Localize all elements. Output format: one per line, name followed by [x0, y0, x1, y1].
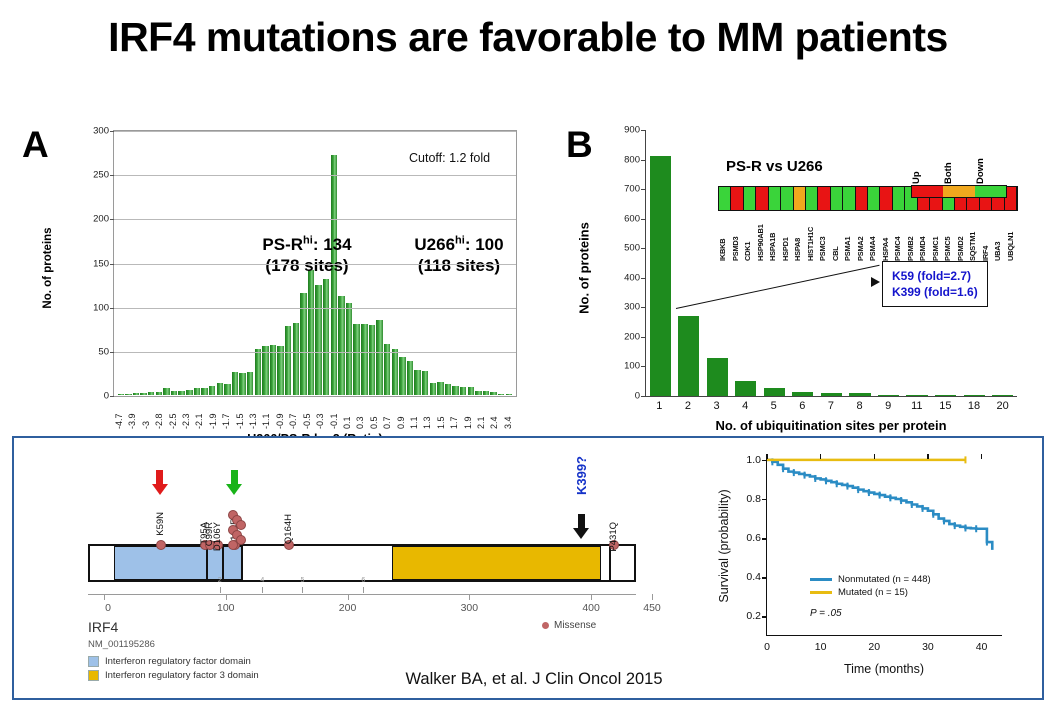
stat-psr-count: : 134 [313, 235, 352, 254]
panel-b-x-tick: 3 [702, 400, 731, 412]
panel-b-x-tick: 2 [674, 400, 703, 412]
stat-u266-high: U266hi: 100 (118 sites) [384, 234, 534, 277]
heatmap-gene-label: SQSTM1 [968, 213, 981, 261]
survival-legend: Nonmutated (n = 448)Mutated (n = 15) [810, 574, 931, 600]
heatmap-cell [744, 187, 756, 210]
histogram-bar [361, 324, 367, 395]
histogram-bar [186, 390, 192, 395]
heatmap-cell [880, 187, 892, 210]
heatmap-gene-label: PSMD2 [956, 213, 969, 261]
panel-b-bar-column [846, 130, 875, 396]
survival-plot-area: 0.20.40.60.81.0010203040 [766, 454, 1002, 636]
histogram-bar [239, 373, 245, 395]
heatmap-cell [781, 187, 793, 210]
histogram-bar [338, 296, 344, 395]
stat-psr-sites: (178 sites) [232, 255, 382, 276]
panel-b-y-tick: 800 [624, 154, 640, 165]
survival-y-tick: 0.6 [746, 532, 761, 544]
panel-a-y-tick-dash [110, 219, 114, 220]
domain-legend-row: Interferon regulatory factor domain [88, 656, 259, 667]
mutation-label: D106Y [212, 522, 223, 551]
panel-a-x-tick: -0.9 [275, 399, 288, 429]
heatmap-gene-label: CDK1 [743, 213, 756, 261]
heatmap-gene-label: HSPA1B [768, 213, 781, 261]
histogram-bar [414, 370, 420, 395]
panel-b-x-tick: 18 [960, 400, 989, 412]
gene-name: IRF4 NM_001195286 [88, 620, 155, 650]
panel-a-x-tick: -3.9 [127, 399, 140, 429]
histogram-bar [452, 386, 458, 395]
panel-b-y-tick-dash [641, 219, 646, 220]
red-arrow-shaft [156, 470, 163, 485]
panel-a-x-tick: 1.7 [449, 399, 462, 429]
survival-y-tick: 0.2 [746, 610, 761, 622]
axis-tick-label: 400 [582, 602, 600, 614]
heatmap-gene-label: IKBKB [718, 213, 731, 261]
panel-b-bar [992, 395, 1013, 396]
panel-b-bar [650, 156, 671, 396]
panel-a-x-tick: -2.8 [154, 399, 167, 429]
histogram-bar [422, 371, 428, 395]
histogram-bar [140, 393, 146, 395]
panel-a-x-tick: -3 [141, 399, 154, 429]
axis-tick [469, 594, 470, 600]
histogram-bar [445, 384, 451, 395]
heatmap-title: PS-R vs U266 [726, 158, 823, 175]
panel-a-x-tick: 0.5 [369, 399, 382, 429]
heatmap-legend-bar [911, 185, 1007, 198]
domain-legend-row: Interferon regulatory factor 3 domain [88, 670, 259, 681]
panel-b-y-tick-dash [641, 160, 646, 161]
histogram-bar [285, 326, 291, 395]
gridline [114, 131, 516, 132]
survival-legend-line [810, 591, 832, 594]
panel-b-bar [707, 358, 728, 396]
panel-b-y-tick: 900 [624, 125, 640, 136]
panel-b-bar [678, 316, 699, 396]
gene-symbol: IRF4 [88, 619, 118, 635]
panel-a-x-tick: -1.1 [261, 399, 274, 429]
lollipop-dot [228, 540, 238, 550]
histogram-bar [369, 325, 375, 395]
domain-legend-swatch [88, 656, 99, 667]
histogram-bar [133, 393, 139, 395]
axis-tick [348, 594, 349, 600]
heatmap-gene-label: HSPA8 [793, 213, 806, 261]
panel-a-y-tick: 0 [104, 391, 109, 402]
panel-b-x-tick: 15 [931, 400, 960, 412]
page-title: IRF4 mutations are favorable to MM patie… [0, 14, 1056, 61]
heatmap-gene-label: HSP90AB1 [756, 213, 769, 261]
protein-axis: 01002003004004502456 [88, 594, 636, 595]
histogram-bar [156, 392, 162, 395]
panel-a-y-tick: 150 [93, 258, 109, 269]
survival-legend-line [810, 578, 832, 581]
heatmap-cell [856, 187, 868, 210]
histogram-bar [293, 323, 299, 395]
survival-x-tick: 40 [976, 641, 988, 653]
panel-a-x-tick: 1.5 [436, 399, 449, 429]
histogram-bar [490, 392, 496, 395]
stat-psr-high: PS-Rhi: 134 (178 sites) [232, 234, 382, 277]
panel-a-x-tick: 1.1 [409, 399, 422, 429]
lollipop-dot [156, 540, 166, 550]
histogram-bar [148, 392, 154, 395]
heatmap-gene-label: PSMA4 [868, 213, 881, 261]
survival-plot: 0.20.40.60.81.0010203040 Survival (proba… [714, 446, 1030, 692]
panel-a-x-tick: -1.9 [208, 399, 221, 429]
heatmap-cell [868, 187, 880, 210]
histogram-bar [247, 372, 253, 395]
histogram-bar [392, 349, 398, 395]
stat-u266-name: U266 [414, 235, 455, 254]
survival-x-tick: 0 [764, 641, 770, 653]
survival-x-tick-dash [874, 454, 875, 459]
heatmap-gene-label: PSMB2 [906, 213, 919, 261]
panel-b-y-tick-dash [641, 307, 646, 308]
cutoff-note: Cutoff: 1.2 fold [409, 151, 490, 165]
axis-tick [104, 594, 105, 600]
panel-a-x-tick-labels: -4.7-3.9-3-2.8-2.5-2.3-2.1-1.9-1.7-1.5-1… [114, 399, 516, 429]
heatmap-cell [769, 187, 781, 210]
heatmap-gene-label: PSMC4 [893, 213, 906, 261]
panel-a-y-tick: 300 [93, 126, 109, 137]
panel-a-x-tick: 2.4 [489, 399, 502, 429]
panel-a-y-tick-dash [110, 175, 114, 176]
panel-b-y-tick: 0 [635, 391, 640, 402]
histogram-bar [255, 349, 261, 395]
survival-x-tick-dash [766, 454, 767, 459]
histogram-bar [171, 391, 177, 395]
survival-x-tick-dash [981, 454, 982, 459]
panel-a: A Cutoff: 1.2 fold PS-Rhi: 134 (178 site… [22, 118, 522, 438]
survival-y-tick-dash [762, 499, 767, 500]
heatmap-legend-labels: UpBothDown [911, 148, 1007, 184]
panel-a-x-tick: -1.7 [221, 399, 234, 429]
survival-p-value: P = .05 [810, 608, 842, 619]
histogram-bar [323, 279, 329, 395]
panel-a-x-tick: -0.3 [315, 399, 328, 429]
axis-tick-label: 0 [105, 602, 111, 614]
panel-a-x-tick: -0.7 [288, 399, 301, 429]
black-arrow-shaft [578, 514, 585, 529]
panel-a-y-tick: 100 [93, 302, 109, 313]
panel-b-y-tick-dash [641, 278, 646, 279]
survival-y-tick-dash [762, 577, 767, 578]
panel-b-x-tick: 8 [845, 400, 874, 412]
heatmap-gene-label: HIST1H1C [806, 213, 819, 261]
panel-a-x-tick: -2.1 [194, 399, 207, 429]
heatmap-gene-label: PSMA2 [856, 213, 869, 261]
survival-x-tick-dash [820, 454, 821, 459]
axis-tick [652, 594, 653, 600]
stat-u266-sites: (118 sites) [384, 255, 534, 276]
heatmap-cell [794, 187, 806, 210]
green-arrow-shaft [231, 470, 238, 485]
panel-b-bar [878, 395, 899, 396]
survival-x-tick: 20 [868, 641, 880, 653]
gridline [114, 264, 516, 265]
panel-b-y-axis-label: No. of proteins [577, 222, 592, 314]
panel-b-y-tick: 300 [624, 302, 640, 313]
axis-tick-label: 450 [643, 602, 661, 614]
panel-b-bar [935, 395, 956, 396]
panel-b-y-tick-dash [641, 366, 646, 367]
histogram-bar [118, 394, 124, 395]
heatmap-cell [818, 187, 830, 210]
survival-y-tick: 1.0 [746, 454, 761, 466]
histogram-bar [475, 391, 481, 395]
histogram-bar [300, 293, 306, 395]
panel-a-plot-area: Cutoff: 1.2 fold PS-Rhi: 134 (178 sites)… [113, 130, 517, 397]
panel-b-x-axis-label: No. of ubiquitination sites per protein [645, 418, 1017, 433]
red-arrow-head [152, 484, 168, 495]
panel-b-bar-column [646, 130, 675, 396]
panel-a-x-tick: 3.4 [503, 399, 516, 429]
heatmap-gene-label: PSMC1 [931, 213, 944, 261]
gene-accession: NM_001195286 [88, 639, 155, 650]
panel-b-x-tick: 5 [759, 400, 788, 412]
heatmap-legend-swatch [943, 186, 974, 197]
heatmap-gene-labels: IKBKBPSMD3CDK1HSP90AB1HSPA1BHSPD1HSPA8HI… [718, 213, 1018, 261]
mutation-label: K59N [155, 512, 166, 536]
panel-a-y-tick-dash [110, 396, 114, 397]
panel-b-letter: B [566, 126, 593, 163]
histogram-bar [209, 386, 215, 395]
survival-x-tick-dash [927, 454, 928, 459]
histogram-bar [201, 388, 207, 395]
stat-psr-sup: hi [303, 234, 313, 246]
axis-minor-tick [302, 587, 303, 593]
survival-y-tick-dash [762, 460, 767, 461]
panel-b-x-tick-labels: 12345678911151820 [645, 400, 1017, 412]
heatmap-gene-label: PSMA1 [843, 213, 856, 261]
histogram-bar [399, 357, 405, 395]
histogram-bar [262, 346, 268, 395]
heatmap-cell [756, 187, 768, 210]
missense-legend: Missense [542, 620, 596, 631]
panel-a-y-tick-dash [110, 131, 114, 132]
gridline [114, 308, 516, 309]
panel-b-bar [849, 393, 870, 396]
heatmap-gene-label: PSMD3 [731, 213, 744, 261]
panel-a-x-tick: -2.3 [181, 399, 194, 429]
axis-minor-label: 6 [361, 577, 365, 584]
panel-a-letter: A [22, 126, 49, 163]
heatmap-legend-swatch [975, 186, 1006, 197]
domain-legend-label: Interferon regulatory factor 3 domain [105, 670, 259, 681]
histogram-bar [125, 394, 131, 395]
histogram-bar [506, 394, 512, 395]
panel-b-x-tick: 20 [988, 400, 1017, 412]
histogram-bar [232, 372, 238, 395]
histogram-bar [407, 361, 413, 395]
heatmap-legend-label: Both [943, 148, 975, 184]
panel-a-x-tick: -1.5 [235, 399, 248, 429]
histogram-bar [353, 324, 359, 395]
heatmap-gene-label: HSPA4 [881, 213, 894, 261]
panel-b-y-tick: 400 [624, 272, 640, 283]
panel-b-x-tick: 1 [645, 400, 674, 412]
heatmap-gene-label: HSPD1 [781, 213, 794, 261]
panel-b-bar [906, 395, 927, 396]
panel-a-x-tick: 2.1 [476, 399, 489, 429]
panel-a-x-tick: -4.7 [114, 399, 127, 429]
panel-a-x-tick: 0.7 [382, 399, 395, 429]
gridline [114, 175, 516, 176]
stat-psr-name: PS-R [262, 235, 303, 254]
panel-b-y-tick-dash [641, 337, 646, 338]
panel-a-y-tick-dash [110, 264, 114, 265]
axis-minor-label: 5 [301, 577, 305, 584]
heatmap-gene-label: CBL [831, 213, 844, 261]
histogram-bar [217, 383, 223, 395]
axis-tick-label: 300 [461, 602, 479, 614]
stat-u266-sup: hi [455, 234, 465, 246]
axis-tick [591, 594, 592, 600]
heatmap-legend-label: Down [975, 148, 1007, 184]
panel-b-bar [964, 395, 985, 396]
heatmap-gene-label: UBA3 [993, 213, 1006, 261]
panel-b-bar [735, 381, 756, 396]
survival-x-tick: 30 [922, 641, 934, 653]
mutation-label: P431Q [608, 522, 619, 552]
survival-legend-label: Mutated (n = 15) [838, 587, 908, 598]
survival-y-tick-dash [762, 616, 767, 617]
survival-y-tick: 0.8 [746, 493, 761, 505]
callout-line-1: K59 (fold=2.7) [892, 268, 978, 284]
panel-a-x-tick: -1.3 [248, 399, 261, 429]
panel-a-y-tick: 50 [98, 346, 109, 357]
survival-y-tick: 0.4 [746, 571, 761, 583]
panel-b-y-tick: 100 [624, 361, 640, 372]
survival-legend-row: Nonmutated (n = 448) [810, 574, 931, 585]
axis-minor-label: 4 [260, 577, 264, 584]
panel-b-y-tick-dash [641, 189, 646, 190]
histogram-bar [277, 346, 283, 395]
survival-legend-label: Nonmutated (n = 448) [838, 574, 931, 585]
panel-b-y-tick: 600 [624, 213, 640, 224]
missense-legend-label: Missense [554, 620, 596, 631]
panel-b-x-tick: 11 [902, 400, 931, 412]
heatmap-cell [806, 187, 818, 210]
panel-a-x-tick: -2.5 [168, 399, 181, 429]
lollipop-diagram: 01002003004004502456 IRF4 NM_001195286 I… [72, 448, 652, 688]
domain-legend: Interferon regulatory factor domainInter… [88, 656, 259, 684]
k399-label: K399? [574, 456, 589, 495]
axis-tick [226, 594, 227, 600]
heatmap-gene-label: UBQLN1 [1006, 213, 1019, 261]
panel-b-y-tick-dash [641, 396, 646, 397]
domain-legend-swatch [88, 670, 99, 681]
panel-a-y-tick: 200 [93, 214, 109, 225]
panel-a-x-tick: 1.3 [422, 399, 435, 429]
histogram-bar [498, 394, 504, 395]
survival-y-tick-dash [762, 538, 767, 539]
survival-x-axis-label: Time (months) [766, 662, 1002, 676]
green-arrow-head [226, 484, 242, 495]
black-arrow-head [573, 528, 589, 539]
panel-b-bar [821, 393, 842, 396]
survival-curves [767, 454, 1003, 636]
callout-arrowhead [871, 277, 880, 287]
callout-line-2: K399 (fold=1.6) [892, 284, 978, 300]
panel-b-y-tick: 200 [624, 331, 640, 342]
panel-b-y-tick-dash [641, 248, 646, 249]
panel-b-y-tick: 700 [624, 184, 640, 195]
gridline [114, 219, 516, 220]
panel-a-x-tick: -0.1 [329, 399, 342, 429]
histogram-bar [224, 384, 230, 395]
stat-u266-count: : 100 [465, 235, 504, 254]
panel-b-x-tick: 9 [874, 400, 903, 412]
histogram-bar [437, 382, 443, 395]
histogram-bar [460, 387, 466, 395]
panel-b-bar [764, 388, 785, 396]
bottom-panel: 01002003004004502456 IRF4 NM_001195286 I… [12, 436, 1044, 700]
panel-b-y-tick-dash [641, 130, 646, 131]
histogram-bar [468, 387, 474, 395]
panel-b-bar-column [675, 130, 704, 396]
histogram-bar [315, 285, 321, 395]
panel-b: B 0100200300400500600700800900 No. of pr… [566, 118, 1046, 438]
panel-b-y-tick: 500 [624, 243, 640, 254]
histogram-bar [376, 320, 382, 395]
heatmap-gene-label: PSMD4 [918, 213, 931, 261]
axis-minor-tick [220, 587, 221, 593]
panel-a-x-tick: 0.1 [342, 399, 355, 429]
gridline [114, 352, 516, 353]
histogram-bar [483, 391, 489, 395]
panel-a-y-axis-label: No. of proteins [42, 227, 54, 308]
heatmap-cell [843, 187, 855, 210]
histogram-bar [163, 388, 169, 395]
survival-y-axis-label: Survival (probability) [717, 489, 731, 602]
mutation-label: Q164H [283, 514, 294, 544]
panel-a-x-tick: -0.5 [302, 399, 315, 429]
histogram-bar [194, 388, 200, 395]
heatmap-cell [831, 187, 843, 210]
panel-b-x-tick: 7 [817, 400, 846, 412]
heatmap-legend-swatch [912, 186, 943, 197]
histogram-bar [346, 303, 352, 395]
domain-legend-label: Interferon regulatory factor domain [105, 656, 251, 667]
survival-x-tick: 10 [815, 641, 827, 653]
panel-a-y-tick: 250 [93, 170, 109, 181]
heatmap-cell [731, 187, 743, 210]
heatmap-gene-label: PSMC3 [818, 213, 831, 261]
callout-box: K59 (fold=2.7) K399 (fold=1.6) [882, 261, 988, 307]
axis-tick-label: 200 [339, 602, 357, 614]
axis-minor-tick [363, 587, 364, 593]
panel-a-y-tick-dash [110, 352, 114, 353]
heatmap-cell [893, 187, 905, 210]
heatmap-gene-label: PSMC5 [943, 213, 956, 261]
survival-curve [767, 460, 992, 550]
heatmap-legend: UpBothDown [911, 148, 1007, 198]
axis-tick-label: 100 [217, 602, 235, 614]
histogram-bar [178, 391, 184, 395]
panel-b-x-tick: 4 [731, 400, 760, 412]
heatmap-cell [719, 187, 731, 210]
panel-a-x-tick: 1.9 [463, 399, 476, 429]
panel-a-x-tick: 0.3 [355, 399, 368, 429]
histogram-bar [308, 270, 314, 395]
panel-a-x-tick: 0.9 [396, 399, 409, 429]
panel-a-y-tick-dash [110, 308, 114, 309]
heatmap-legend-label: Up [911, 148, 943, 184]
survival-legend-row: Mutated (n = 15) [810, 587, 931, 598]
